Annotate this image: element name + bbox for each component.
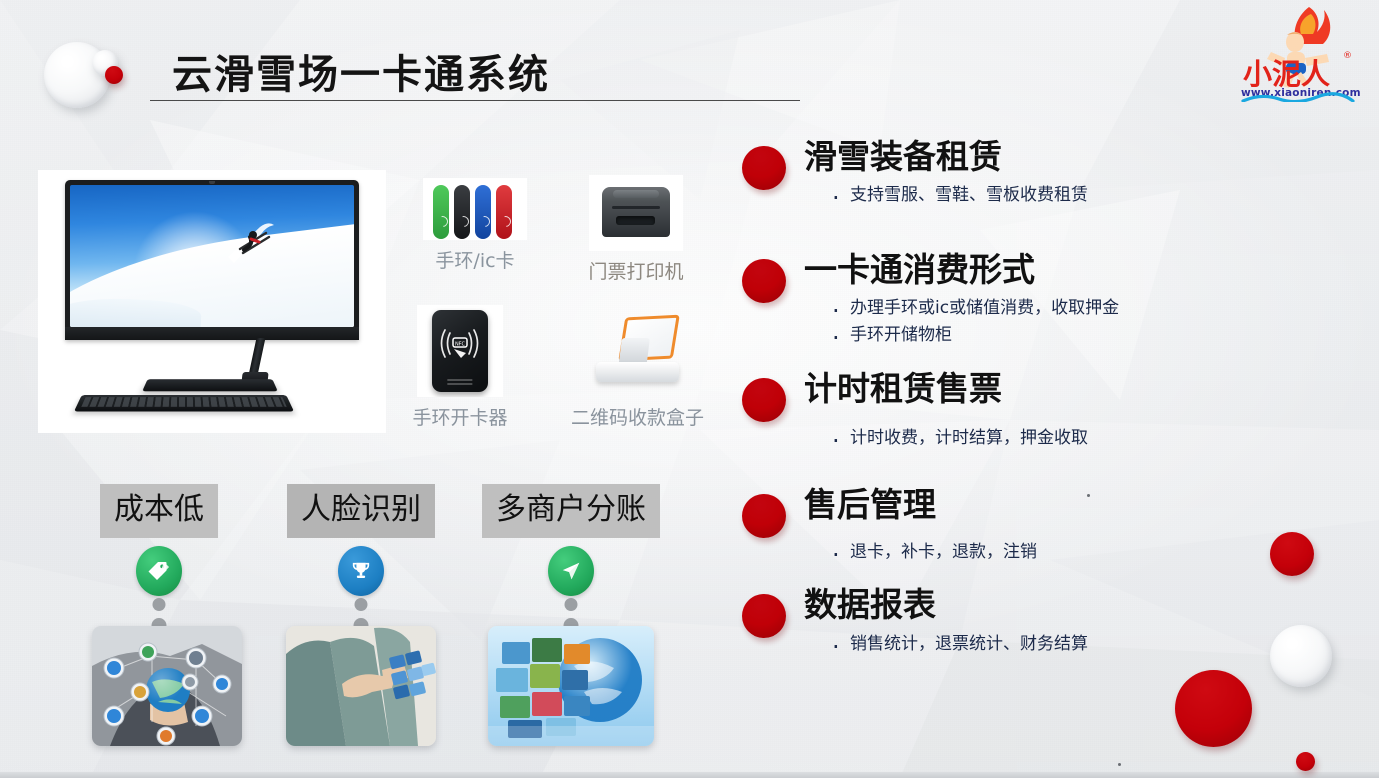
feature-pin bbox=[136, 546, 182, 596]
section-bullet-dot bbox=[742, 378, 786, 422]
monitor-bezel bbox=[65, 180, 359, 340]
decor-circle-red-right-lower bbox=[1175, 670, 1252, 747]
all-in-one-computer-photo bbox=[38, 170, 386, 433]
device-caption: 手环开卡器 bbox=[390, 403, 530, 430]
section-card-consumption: 一卡通消费形式 办理手环或ic或储值消费，收取押金 手环开储物柜 bbox=[742, 253, 1362, 350]
feature-icon-bubble bbox=[338, 546, 384, 596]
section-after-sales: 售后管理 退卡，补卡，退款，注销 bbox=[742, 488, 1362, 566]
pin-dot-upper bbox=[355, 598, 368, 611]
device-ticket-printer: 门票打印机 bbox=[566, 175, 706, 284]
feature-photo bbox=[488, 626, 654, 746]
device-qr-payment-box: 二维码收款盒子 bbox=[560, 305, 715, 430]
wristband-green bbox=[433, 185, 449, 239]
blue-globe-photo-tiles-image bbox=[488, 626, 654, 746]
section-bullet-dot bbox=[742, 494, 786, 538]
trophy-icon bbox=[350, 560, 372, 582]
paper-output bbox=[616, 216, 655, 225]
section-heading: 计时租赁售票 bbox=[804, 372, 1362, 407]
bullet-item: 办理手环或ic或储值消费，收取押金 bbox=[830, 295, 1362, 323]
printer-body bbox=[602, 187, 670, 237]
paper-slot bbox=[612, 206, 661, 209]
feature-multi-merchant-split: 多商户分账 bbox=[466, 484, 676, 746]
monitor-stand-base bbox=[142, 379, 278, 391]
section-bullet-dot bbox=[742, 146, 786, 190]
section-heading: 售后管理 bbox=[804, 488, 1362, 523]
pin-dot-upper bbox=[565, 598, 578, 611]
bullet-item: 退卡，补卡，退款，注销 bbox=[830, 539, 1362, 567]
bullet-item: 销售统计，退票统计、财务结算 bbox=[830, 631, 1362, 659]
bullet-item: 手环开储物柜 bbox=[830, 322, 1362, 350]
section-heading: 数据报表 bbox=[804, 588, 1362, 623]
device-caption: 门票打印机 bbox=[566, 257, 706, 284]
wristband-black bbox=[454, 185, 470, 239]
section-timed-rental-ticketing: 计时租赁售票 计时收费，计时结算，押金收取 bbox=[742, 372, 1362, 452]
pin-dot-upper bbox=[153, 598, 166, 611]
printer-lid bbox=[613, 190, 659, 198]
section-bullet-list: 计时收费，计时结算，押金收取 bbox=[830, 425, 1362, 453]
section-heading: 一卡通消费形式 bbox=[804, 253, 1362, 288]
page-title: 云滑雪场一卡通系统 bbox=[172, 42, 550, 100]
feature-icon-bubble bbox=[136, 546, 182, 596]
feature-pin bbox=[548, 546, 594, 596]
title-underline bbox=[150, 100, 800, 101]
section-bullet-dot bbox=[742, 259, 786, 303]
device-wristband: 手环/ic卡 bbox=[400, 178, 550, 273]
feature-photo bbox=[92, 626, 242, 746]
bullet-item: 计时收费，计时结算，押金收取 bbox=[830, 425, 1362, 453]
section-bullet-list: 退卡，补卡，退款，注销 bbox=[830, 539, 1362, 567]
stray-speck-lower bbox=[1118, 763, 1121, 766]
section-bullet-list: 支持雪服、雪鞋、雪板收费租赁 bbox=[830, 182, 1362, 210]
feature-label: 人脸识别 bbox=[287, 484, 435, 538]
bottom-bar bbox=[0, 772, 1379, 778]
keyboard bbox=[74, 395, 294, 411]
brand-name: 小泥人 bbox=[1243, 57, 1330, 91]
section-bullet-dot bbox=[742, 594, 786, 638]
feature-cost-low: 成本低 bbox=[92, 484, 226, 746]
card-writer-thumbnail: NFC bbox=[417, 305, 503, 397]
decor-dot-red-bottomright bbox=[1296, 752, 1315, 771]
printer-thumbnail bbox=[589, 175, 683, 251]
device-card-writer: NFC 手环开卡器 bbox=[390, 305, 530, 430]
feature-pin bbox=[338, 546, 384, 596]
device-caption: 二维码收款盒子 bbox=[560, 403, 715, 430]
monitor-chin bbox=[65, 327, 359, 340]
reader-brand-mark bbox=[447, 377, 472, 385]
decor-dot-red-topleft bbox=[105, 66, 123, 84]
skier-icon bbox=[226, 213, 282, 269]
feature-label: 成本低 bbox=[100, 484, 218, 538]
section-equipment-rental: 滑雪装备租赁 支持雪服、雪鞋、雪板收费租赁 bbox=[742, 140, 1362, 209]
reader-body: NFC bbox=[432, 310, 487, 393]
svg-text:NFC: NFC bbox=[455, 342, 466, 348]
section-data-reports: 数据报表 销售统计，退票统计、财务结算 bbox=[742, 588, 1362, 658]
feature-sections-column: 滑雪装备租赁 支持雪服、雪鞋、雪板收费租赁 一卡通消费形式 办理手环或ic或储值… bbox=[742, 140, 1362, 658]
nfc-icon: NFC bbox=[439, 327, 481, 361]
wristband-blue bbox=[475, 185, 491, 239]
feature-icon-bubble bbox=[548, 546, 594, 596]
monitor-screen bbox=[70, 185, 354, 327]
feature-face-recognition: 人脸识别 bbox=[280, 484, 442, 746]
webcam-icon bbox=[209, 181, 215, 184]
network-globe-in-hand-image bbox=[92, 626, 242, 746]
send-icon bbox=[560, 560, 582, 582]
wristband-red bbox=[496, 185, 512, 239]
bullet-item: 支持雪服、雪鞋、雪板收费租赁 bbox=[830, 182, 1362, 210]
feature-label: 多商户分账 bbox=[482, 484, 660, 538]
wristband-thumbnail bbox=[423, 178, 527, 240]
qr-base bbox=[596, 362, 678, 382]
stray-speck-upper bbox=[1087, 494, 1090, 497]
tag-icon bbox=[147, 559, 171, 583]
section-bullet-list: 销售统计，退票统计、财务结算 bbox=[830, 631, 1362, 659]
qr-box-thumbnail bbox=[584, 305, 692, 397]
device-caption: 手环/ic卡 bbox=[400, 246, 550, 273]
feature-photo bbox=[286, 626, 436, 746]
finger-touch-screen-image bbox=[286, 626, 436, 746]
section-bullet-list: 办理手环或ic或储值消费，收取押金 手环开储物柜 bbox=[830, 295, 1362, 350]
brand-logo: 小泥人 ® www.xiaoniren.com bbox=[1231, 2, 1371, 102]
section-heading: 滑雪装备租赁 bbox=[804, 140, 1362, 175]
slide-canvas: 云滑雪场一卡通系统 小泥人 ® www.xiaoniren.com bbox=[0, 0, 1379, 778]
registered-mark: ® bbox=[1343, 51, 1352, 61]
